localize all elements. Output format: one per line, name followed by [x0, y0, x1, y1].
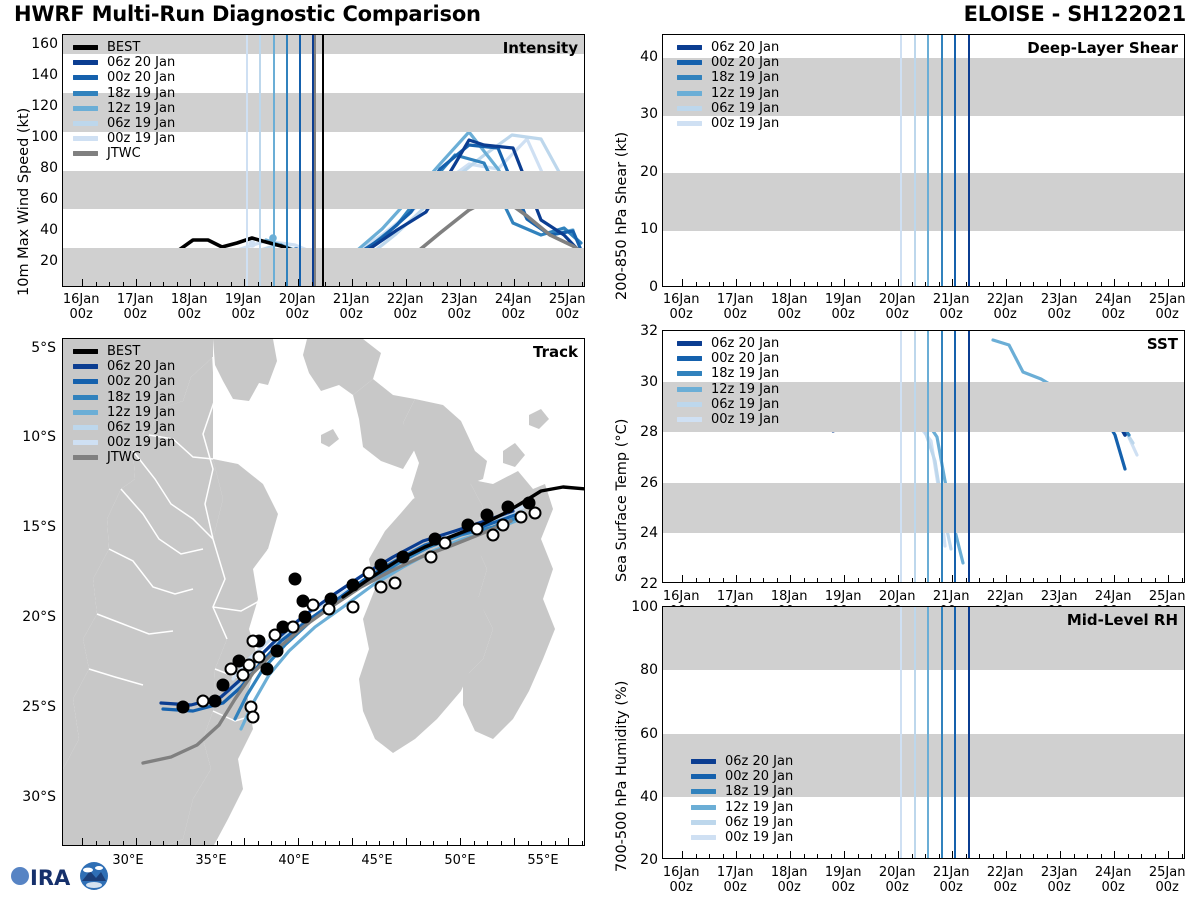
- sst-legend: 06z 20 Jan 00z 20 Jan 18z 19 Jan 12z 19 …: [677, 336, 779, 427]
- axis-tick-minor: [339, 841, 340, 845]
- axis-tick-minor: [831, 282, 832, 286]
- axis-tick-minor: [993, 282, 994, 286]
- axis-tick-minor: [993, 854, 994, 858]
- track-title: Track: [533, 343, 578, 361]
- init-line-06z19: [259, 35, 261, 286]
- axis-tick-minor: [858, 854, 859, 858]
- y-tick: 25°S: [6, 699, 56, 715]
- y-tick: 20: [14, 253, 58, 269]
- axis-tick-minor: [1087, 854, 1088, 858]
- init-line-00z19: [900, 607, 902, 858]
- axis-tick: [952, 575, 953, 582]
- shear-title: Deep-Layer Shear: [1027, 39, 1178, 57]
- axis-tick: [82, 838, 83, 845]
- legend-label: 00z 20 Jan: [711, 352, 779, 365]
- axis-tick-minor: [777, 578, 778, 582]
- svg-text:IRA: IRA: [30, 866, 71, 890]
- axis-tick-minor: [1047, 282, 1048, 286]
- init-line-06z19: [914, 607, 916, 858]
- current-time-line-gray: [314, 35, 316, 286]
- x-tick: 16Jan00z: [663, 865, 700, 896]
- axis-tick: [952, 851, 953, 858]
- init-line-12z19: [927, 331, 929, 582]
- y-tick: 80: [614, 662, 658, 678]
- axis-tick: [1168, 575, 1169, 582]
- axis-tick-minor: [858, 282, 859, 286]
- x-tick: 55°E: [527, 853, 558, 868]
- axis-tick: [898, 851, 899, 858]
- legend-swatch: [73, 425, 98, 430]
- init-line-00z20: [954, 35, 956, 286]
- axis-tick: [844, 575, 845, 582]
- y-tick: 40: [614, 49, 658, 65]
- legend-label: 00z 19 Jan: [107, 436, 175, 449]
- axis-tick-minor: [177, 282, 178, 286]
- axis-tick-minor: [1128, 854, 1129, 858]
- y-tick: 30: [614, 106, 658, 122]
- x-tick: 24Jan00z: [1095, 865, 1132, 896]
- x-tick: 50°E: [444, 853, 475, 868]
- axis-tick: [136, 279, 137, 286]
- rh-legend: 06z 20 Jan 00z 20 Jan 18z 19 Jan 12z 19 …: [691, 754, 793, 845]
- legend-label: 06z 19 Jan: [725, 816, 793, 829]
- axis-tick-minor: [912, 854, 913, 858]
- axis-tick-minor: [420, 282, 421, 286]
- y-tick: 0: [614, 279, 658, 295]
- shear-plot-area: Deep-Layer Shear 06z 20 Jan 00z 20 Jan 1…: [662, 34, 1185, 287]
- track-panel: Track BEST 06z 20 Jan 00z 20 Jan 18z 19 …: [0, 330, 600, 860]
- axis-tick-minor: [312, 282, 313, 286]
- legend-swatch: [73, 349, 98, 354]
- y-tick: 20°S: [6, 609, 56, 625]
- y-tick: 100: [14, 129, 58, 145]
- init-line-06z20: [968, 35, 970, 286]
- x-tick: 17Jan00z: [717, 292, 754, 323]
- axis-tick-minor: [979, 854, 980, 858]
- axis-tick-minor: [1047, 578, 1048, 582]
- axis-tick-minor: [858, 578, 859, 582]
- axis-tick-minor: [582, 841, 583, 845]
- axis-tick-minor: [885, 282, 886, 286]
- sst-plot-area: SST 06z 20 Jan 00z 20 Jan 18z 19 Jan 12z…: [662, 330, 1185, 583]
- init-line-18z19: [941, 607, 943, 858]
- y-tick: 140: [14, 67, 58, 83]
- y-tick: 5°S: [6, 340, 56, 356]
- axis-tick: [1060, 279, 1061, 286]
- axis-tick: [514, 279, 515, 286]
- x-tick: 23Jan00z: [1041, 292, 1078, 323]
- intensity-panel: 10m Max Wind Speed (kt): [0, 28, 600, 320]
- axis-tick-minor: [163, 282, 164, 286]
- init-line-18z19: [941, 35, 943, 286]
- legend-label: 06z 19 Jan: [711, 398, 779, 411]
- legend-swatch: [73, 45, 98, 50]
- axis-tick-minor: [541, 282, 542, 286]
- axis-tick: [736, 279, 737, 286]
- axis-tick-minor: [258, 841, 259, 845]
- axis-tick-minor: [447, 282, 448, 286]
- axis-tick-minor: [271, 841, 272, 845]
- axis-tick-minor: [1155, 854, 1156, 858]
- y-tick: 20: [614, 164, 658, 180]
- axis-tick-minor: [709, 854, 710, 858]
- axis-tick: [352, 838, 353, 845]
- axis-tick-minor: [339, 282, 340, 286]
- legend-swatch: [73, 121, 98, 126]
- sst-panel: Sea Surface Temp (°C) SST 06: [600, 320, 1200, 612]
- axis-tick-minor: [366, 841, 367, 845]
- axis-tick: [298, 279, 299, 286]
- x-tick: 22Jan00z: [987, 865, 1024, 896]
- axis-tick-minor: [1020, 578, 1021, 582]
- x-tick: 35°E: [195, 853, 226, 868]
- axis-tick-minor: [763, 854, 764, 858]
- axis-tick-minor: [966, 282, 967, 286]
- axis-tick-minor: [555, 841, 556, 845]
- axis-tick: [298, 838, 299, 845]
- axis-tick-minor: [912, 282, 913, 286]
- axis-tick: [898, 575, 899, 582]
- axis-tick-minor: [1155, 282, 1156, 286]
- init-line-12z19: [927, 35, 929, 286]
- axis-tick-minor: [1101, 854, 1102, 858]
- x-tick: 23Jan00z: [1041, 865, 1078, 896]
- axis-tick-minor: [325, 282, 326, 286]
- legend-label: 18z 19 Jan: [107, 391, 175, 404]
- x-tick: 18Jan00z: [771, 865, 808, 896]
- axis-tick: [1168, 851, 1169, 858]
- y-tick: 26: [614, 475, 658, 491]
- x-tick: 25Jan00z: [549, 292, 586, 323]
- legend-swatch: [677, 60, 702, 65]
- y-tick: 80: [14, 160, 58, 176]
- x-tick: 30°E: [112, 853, 143, 868]
- x-tick: 22Jan00z: [387, 292, 424, 323]
- legend-label: 06z 19 Jan: [711, 102, 779, 115]
- axis-tick-minor: [528, 841, 529, 845]
- axis-tick: [406, 279, 407, 286]
- axis-tick-minor: [763, 578, 764, 582]
- legend-swatch: [677, 106, 702, 111]
- axis-tick-minor: [1101, 578, 1102, 582]
- legend-label: 06z 20 Jan: [725, 755, 793, 768]
- axis-tick: [244, 838, 245, 845]
- legend-label: 00z 20 Jan: [711, 56, 779, 69]
- axis-tick-minor: [817, 282, 818, 286]
- axis-tick-minor: [831, 578, 832, 582]
- axis-tick-minor: [379, 841, 380, 845]
- axis-tick-minor: [777, 282, 778, 286]
- axis-tick-minor: [204, 841, 205, 845]
- axis-tick-minor: [150, 282, 151, 286]
- page-title-left: HWRF Multi-Run Diagnostic Comparison: [14, 2, 481, 26]
- axis-tick-minor: [777, 854, 778, 858]
- axis-tick-minor: [487, 282, 488, 286]
- axis-tick-minor: [709, 282, 710, 286]
- legend-swatch: [73, 364, 98, 369]
- shear-y-axis-label: 200-850 hPa Shear (kt): [614, 132, 630, 300]
- axis-tick: [1168, 279, 1169, 286]
- axis-tick-minor: [804, 282, 805, 286]
- axis-tick: [790, 851, 791, 858]
- axis-tick: [844, 279, 845, 286]
- y-tick: 15°S: [6, 519, 56, 535]
- legend-swatch: [73, 455, 98, 460]
- axis-tick-minor: [1047, 854, 1048, 858]
- legend-label: 18z 19 Jan: [711, 367, 779, 380]
- shear-legend: 06z 20 Jan 00z 20 Jan 18z 19 Jan 12z 19 …: [677, 40, 779, 131]
- legend-label: 00z 20 Jan: [107, 71, 175, 84]
- axis-tick-minor: [696, 578, 697, 582]
- axis-tick-minor: [804, 578, 805, 582]
- page-title-right: ELOISE - SH122021: [964, 2, 1186, 26]
- y-tick: 32: [614, 323, 658, 339]
- axis-tick-minor: [1033, 578, 1034, 582]
- axis-tick-minor: [925, 282, 926, 286]
- x-tick: 21Jan00z: [333, 292, 370, 323]
- init-line-06z20: [968, 607, 970, 858]
- axis-tick: [190, 838, 191, 845]
- axis-tick-minor: [750, 854, 751, 858]
- legend-swatch: [73, 379, 98, 384]
- axis-tick-minor: [1182, 282, 1183, 286]
- init-line-00z20: [299, 35, 301, 286]
- axis-tick-minor: [528, 282, 529, 286]
- axis-tick-minor: [1128, 578, 1129, 582]
- legend-swatch: [73, 136, 98, 141]
- legend-label: 18z 19 Jan: [107, 87, 175, 100]
- legend-swatch: [677, 402, 702, 407]
- x-tick: 18Jan00z: [771, 292, 808, 323]
- axis-tick: [568, 838, 569, 845]
- axis-tick-minor: [1033, 854, 1034, 858]
- axis-tick-minor: [1074, 282, 1075, 286]
- x-tick: 20Jan00z: [279, 292, 316, 323]
- legend-label: JTWC: [107, 147, 141, 160]
- axis-tick-minor: [96, 841, 97, 845]
- legend-swatch: [677, 341, 702, 346]
- axis-tick-minor: [231, 841, 232, 845]
- legend-label: 06z 20 Jan: [711, 41, 779, 54]
- axis-tick-minor: [750, 282, 751, 286]
- axis-tick: [1006, 575, 1007, 582]
- axis-tick-minor: [966, 854, 967, 858]
- axis-tick: [1060, 575, 1061, 582]
- axis-tick-minor: [979, 282, 980, 286]
- legend-swatch: [691, 789, 716, 794]
- axis-tick: [736, 575, 737, 582]
- axis-tick-minor: [871, 578, 872, 582]
- axis-tick-minor: [871, 282, 872, 286]
- legend-label: 00z 19 Jan: [107, 132, 175, 145]
- axis-tick-minor: [1087, 578, 1088, 582]
- legend-swatch: [677, 75, 702, 80]
- x-tick: 21Jan00z: [933, 292, 970, 323]
- axis-tick-minor: [966, 578, 967, 582]
- axis-tick: [1114, 851, 1115, 858]
- sst-title: SST: [1147, 335, 1178, 353]
- axis-tick: [1060, 851, 1061, 858]
- axis-tick: [844, 851, 845, 858]
- y-tick: 100: [614, 599, 658, 615]
- axis-tick-minor: [831, 854, 832, 858]
- legend-swatch: [73, 440, 98, 445]
- axis-tick-minor: [258, 282, 259, 286]
- axis-tick-minor: [1182, 578, 1183, 582]
- axis-tick-minor: [150, 841, 151, 845]
- axis-tick: [352, 279, 353, 286]
- legend-swatch: [691, 774, 716, 779]
- legend-label: 00z 20 Jan: [725, 770, 793, 783]
- axis-tick-minor: [433, 282, 434, 286]
- axis-tick-minor: [1020, 282, 1021, 286]
- legend-label: 06z 20 Jan: [107, 360, 175, 373]
- x-tick: 21Jan00z: [933, 865, 970, 896]
- x-tick: 17Jan00z: [717, 865, 754, 896]
- axis-tick-minor: [541, 841, 542, 845]
- axis-tick-minor: [231, 282, 232, 286]
- x-tick: 20Jan00z: [879, 865, 916, 896]
- axis-tick: [1114, 575, 1115, 582]
- x-tick: 20Jan00z: [879, 292, 916, 323]
- axis-tick: [682, 575, 683, 582]
- axis-tick: [136, 838, 137, 845]
- axis-tick-minor: [487, 841, 488, 845]
- axis-tick-minor: [723, 578, 724, 582]
- axis-tick-minor: [723, 854, 724, 858]
- x-tick: 18Jan00z: [171, 292, 208, 323]
- rh-y-axis-label: 700-500 hPa Humidity (%): [614, 681, 630, 872]
- current-time-line-black: [322, 35, 324, 286]
- axis-tick: [736, 851, 737, 858]
- axis-tick-minor: [96, 282, 97, 286]
- legend-swatch: [677, 387, 702, 392]
- legend-label: 12z 19 Jan: [107, 102, 175, 115]
- track-map-area[interactable]: Track BEST 06z 20 Jan 00z 20 Jan 18z 19 …: [62, 338, 585, 846]
- legend-label: 00z 19 Jan: [711, 413, 779, 426]
- axis-tick-minor: [177, 841, 178, 845]
- y-tick: 60: [614, 726, 658, 742]
- axis-tick-minor: [1141, 578, 1142, 582]
- axis-tick: [460, 838, 461, 845]
- axis-tick: [460, 279, 461, 286]
- rh-panel: 700-500 hPa Humidity (%) Mid-Level RH 06…: [600, 596, 1200, 896]
- init-line-00z19: [246, 35, 248, 286]
- axis-tick-minor: [420, 841, 421, 845]
- legend-label: 06z 20 Jan: [711, 337, 779, 350]
- legend-swatch: [691, 835, 716, 840]
- track-legend: BEST 06z 20 Jan 00z 20 Jan 18z 19 Jan 12…: [73, 344, 175, 466]
- x-tick: 25Jan00z: [1149, 865, 1186, 896]
- axis-tick-minor: [939, 854, 940, 858]
- y-tick: 30: [614, 374, 658, 390]
- x-tick: 16Jan00z: [663, 292, 700, 323]
- axis-tick-minor: [474, 841, 475, 845]
- axis-tick-minor: [925, 854, 926, 858]
- axis-tick-minor: [696, 282, 697, 286]
- axis-tick-minor: [123, 841, 124, 845]
- axis-tick-minor: [709, 578, 710, 582]
- y-tick: 160: [14, 36, 58, 52]
- axis-tick: [514, 838, 515, 845]
- axis-tick-minor: [393, 282, 394, 286]
- legend-swatch: [677, 121, 702, 126]
- legend-label: 06z 20 Jan: [107, 56, 175, 69]
- axis-tick-minor: [555, 282, 556, 286]
- axis-tick-minor: [217, 282, 218, 286]
- axis-tick-minor: [501, 282, 502, 286]
- legend-swatch: [73, 91, 98, 96]
- axis-tick-minor: [312, 841, 313, 845]
- axis-tick: [1006, 279, 1007, 286]
- axis-tick: [790, 575, 791, 582]
- axis-tick-minor: [217, 841, 218, 845]
- axis-tick-minor: [1155, 578, 1156, 582]
- legend-label: 06z 19 Jan: [107, 117, 175, 130]
- legend-label: JTWC: [107, 451, 141, 464]
- y-tick: 20: [614, 852, 658, 868]
- x-tick: 19Jan00z: [825, 292, 862, 323]
- axis-tick: [244, 279, 245, 286]
- axis-tick-minor: [379, 282, 380, 286]
- init-line-06z19: [914, 35, 916, 286]
- y-tick: 120: [14, 98, 58, 114]
- axis-tick: [406, 838, 407, 845]
- axis-tick: [190, 279, 191, 286]
- y-tick: 10°S: [6, 429, 56, 445]
- axis-tick: [1114, 279, 1115, 286]
- sst-y-axis-label: Sea Surface Temp (°C): [614, 419, 630, 582]
- init-line-18z19: [286, 35, 288, 286]
- axis-tick-minor: [1020, 854, 1021, 858]
- x-tick: 16Jan00z: [63, 292, 100, 323]
- x-tick: 19Jan00z: [225, 292, 262, 323]
- axis-tick-minor: [204, 282, 205, 286]
- axis-tick-minor: [939, 282, 940, 286]
- axis-tick-minor: [925, 578, 926, 582]
- legend-swatch: [677, 371, 702, 376]
- rh-title: Mid-Level RH: [1067, 611, 1178, 629]
- axis-tick: [898, 279, 899, 286]
- legend-label: 12z 19 Jan: [711, 383, 779, 396]
- legend-label: 00z 19 Jan: [711, 117, 779, 130]
- legend-swatch: [73, 151, 98, 156]
- axis-tick-minor: [1074, 578, 1075, 582]
- x-tick: 23Jan00z: [441, 292, 478, 323]
- axis-tick-minor: [993, 578, 994, 582]
- axis-tick-minor: [285, 841, 286, 845]
- axis-tick-minor: [912, 578, 913, 582]
- axis-tick-minor: [1033, 282, 1034, 286]
- axis-tick-minor: [723, 282, 724, 286]
- legend-label: 12z 19 Jan: [725, 801, 793, 814]
- axis-tick: [1006, 851, 1007, 858]
- axis-tick-minor: [1101, 282, 1102, 286]
- y-tick: 22: [614, 576, 658, 592]
- axis-tick-minor: [123, 282, 124, 286]
- axis-tick: [790, 279, 791, 286]
- legend-label: 00z 19 Jan: [725, 831, 793, 844]
- axis-tick-minor: [1182, 854, 1183, 858]
- legend-label: BEST: [107, 345, 140, 358]
- legend-swatch: [677, 45, 702, 50]
- init-line-00z19: [900, 331, 902, 582]
- legend-swatch: [691, 820, 716, 825]
- axis-tick-minor: [804, 854, 805, 858]
- axis-tick-minor: [871, 854, 872, 858]
- legend-label: 18z 19 Jan: [711, 71, 779, 84]
- legend-label: BEST: [107, 41, 140, 54]
